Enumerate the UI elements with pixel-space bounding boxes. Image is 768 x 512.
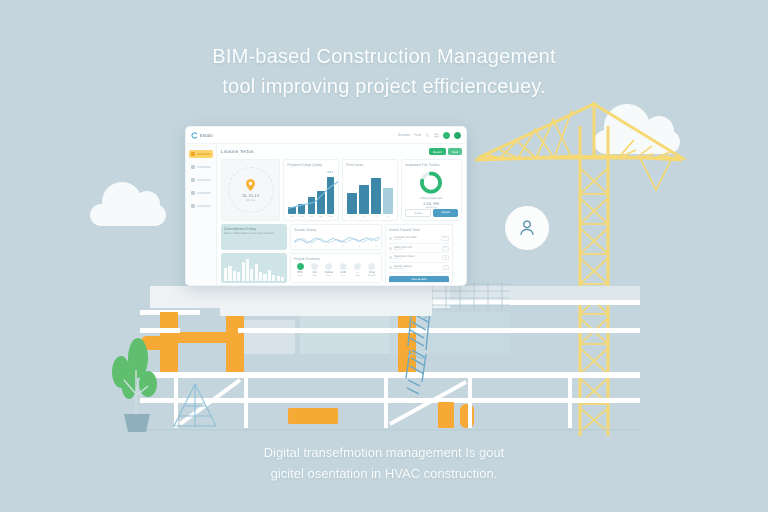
sidebar-item-label bbox=[197, 166, 211, 169]
list-item-sub: East wing bbox=[394, 268, 441, 270]
axis-tick-label: Apr bbox=[317, 216, 324, 218]
list-title: Suhert Toasets Tetur bbox=[389, 228, 449, 232]
list-item-text: Concrete pour deckLevel 3 bbox=[394, 236, 439, 241]
list-item-text: Steel frame checkGrid C4 bbox=[394, 255, 440, 260]
avatar[interactable] bbox=[443, 132, 450, 139]
axis-tick-label: 0 bbox=[295, 246, 296, 248]
x-axis-labels: JanFebMarAprMay bbox=[288, 216, 334, 218]
stat-value: — bbox=[356, 271, 359, 274]
stats-title: Prejete Summaty bbox=[294, 257, 378, 261]
dashboard-sidebar: Dashboard Projects Schedule Resources bbox=[186, 144, 217, 285]
bar bbox=[383, 188, 393, 214]
tasks-list: Concrete pour deckLevel 3OKHVAC duct run… bbox=[389, 234, 449, 272]
logo-text: Estalo bbox=[200, 133, 213, 138]
potted-plant-icon bbox=[100, 334, 172, 434]
axis-tick-label: 4 bbox=[311, 246, 312, 248]
bar bbox=[233, 271, 236, 282]
status-dot bbox=[389, 237, 392, 240]
stat-label: Plans bbox=[326, 275, 331, 277]
stat-value: Clrng bbox=[369, 271, 375, 274]
bar bbox=[259, 272, 262, 282]
dashboard-row-1: SL 31.14 Runce Prepaesit Siege Quatly +2… bbox=[221, 159, 462, 221]
progress-donut-card[interactable]: Anapeaest Fite Tioldes Oherynoqueodis 2.… bbox=[401, 159, 462, 221]
bar bbox=[228, 266, 231, 281]
page-title: BIM-based Construction Management tool i… bbox=[0, 42, 768, 102]
dashboard-topnav: Busines Feat bbox=[398, 132, 461, 139]
chart-title: Sunasit Shaeq bbox=[294, 228, 378, 232]
cloud-icon bbox=[90, 204, 166, 226]
status-badge: 12 bbox=[442, 246, 449, 251]
page-caption: Digital transefmotion management Is gout… bbox=[0, 442, 768, 484]
x-axis-labels: Q1Q2Q3Q4 bbox=[347, 216, 393, 218]
axis-tick-label: Q1 bbox=[347, 216, 357, 218]
view-all-tasks-button[interactable]: View all tasks bbox=[389, 276, 449, 283]
stat-label: Delay bbox=[355, 275, 360, 277]
stat-value: 124 bbox=[312, 271, 316, 274]
bar bbox=[359, 185, 369, 215]
user-avatar-badge bbox=[505, 206, 549, 250]
skyline-chart-card[interactable]: Site Output bbox=[221, 253, 287, 283]
site-location-card[interactable]: SL 31.14 Runce bbox=[221, 159, 280, 221]
list-item[interactable]: Steel frame checkGrid C43d bbox=[389, 253, 449, 263]
sidebar-item-label bbox=[197, 192, 211, 195]
dashboard-screen: Estalo Busines Feat bbox=[185, 126, 467, 286]
bar bbox=[224, 268, 227, 282]
chart-card-prect-iunes[interactable]: Prect Iunes Q1Q2Q3Q4 bbox=[342, 159, 398, 221]
check-circle-icon bbox=[297, 263, 304, 270]
bar bbox=[268, 270, 271, 281]
gear-icon bbox=[191, 204, 195, 208]
page-title: Lisaone Tertus bbox=[221, 149, 254, 154]
new-button[interactable]: New bbox=[448, 148, 462, 155]
stats-row: 86%Done124CrewOptinatPlans3.2MCost—Delay… bbox=[294, 263, 378, 277]
orange-beam bbox=[178, 332, 226, 343]
list-item[interactable]: HVAC duct runsZone B-1712 bbox=[389, 244, 449, 254]
axis-tick-label: Q4 bbox=[383, 216, 393, 218]
axis-tick-label: 8 bbox=[326, 246, 327, 248]
tasks-list-card[interactable]: Suhert Toasets Tetur Concrete pour deckL… bbox=[385, 224, 453, 283]
list-item-text: HVAC duct runsZone B-17 bbox=[394, 246, 440, 251]
logo-icon bbox=[191, 132, 198, 139]
dashboard-header: Lisaone Tertus Report New bbox=[221, 148, 462, 155]
illustration-scene: Estalo Busines Feat bbox=[0, 0, 768, 512]
details-button[interactable]: Details bbox=[405, 209, 432, 217]
topnav-item[interactable]: Feat bbox=[414, 133, 421, 137]
panel bbox=[300, 312, 390, 354]
stat-label: Weather bbox=[368, 275, 376, 277]
stat-item: 124Crew bbox=[308, 263, 320, 277]
axis-tick-label: Q2 bbox=[359, 216, 369, 218]
grid-icon[interactable] bbox=[434, 133, 439, 138]
dashboard-actions: Report New bbox=[429, 148, 462, 155]
bar bbox=[246, 259, 249, 281]
list-item-sub: Grid C4 bbox=[394, 258, 440, 260]
sidebar-item-label bbox=[197, 205, 211, 208]
panel bbox=[235, 320, 295, 354]
dashboard-topbar: Estalo Busines Feat bbox=[186, 127, 466, 144]
sidebar-item-schedule[interactable]: Schedule bbox=[189, 176, 213, 184]
bar bbox=[281, 277, 284, 281]
line-series bbox=[288, 174, 339, 214]
chart-title: Prect Iunes bbox=[346, 163, 394, 167]
status-badge: 3d bbox=[442, 255, 449, 260]
dashboard-row-2: Dvecrefjivess Enteg Mainten ciffeiltet a… bbox=[221, 224, 462, 283]
app-logo[interactable]: Estalo bbox=[191, 132, 213, 139]
status-dot bbox=[389, 247, 392, 250]
list-item-sub: Level 3 bbox=[394, 239, 439, 241]
map-rings bbox=[228, 167, 274, 213]
stats-summary-card[interactable]: Prejete Summaty 86%Done124CrewOptinatPla… bbox=[290, 253, 382, 283]
bar bbox=[272, 275, 275, 282]
topnav-item[interactable]: Busines bbox=[398, 133, 410, 137]
monitor-stand bbox=[220, 286, 432, 316]
status-dot bbox=[389, 256, 392, 259]
stat-item: ClrngWeather bbox=[366, 263, 378, 277]
grid-icon bbox=[191, 152, 195, 156]
bar bbox=[250, 269, 253, 281]
dashboard-monitor: Estalo Busines Feat bbox=[185, 126, 467, 286]
sidebar-item-resources[interactable]: Resources bbox=[189, 189, 213, 197]
user-icon bbox=[516, 217, 538, 239]
stat-label: Cost bbox=[341, 275, 345, 277]
stat-item: 86%Done bbox=[294, 263, 306, 277]
axis-tick-label: 16 bbox=[358, 246, 360, 248]
stat-value: 86% bbox=[298, 271, 303, 274]
minus-icon bbox=[354, 263, 361, 270]
donut-card-actions: Details Upgrade bbox=[405, 209, 458, 217]
list-item[interactable]: Concrete pour deckLevel 3OK bbox=[389, 234, 449, 244]
folder-icon bbox=[191, 165, 195, 169]
chart-title: Prepaesit Siege Quatly bbox=[287, 163, 335, 167]
status-badge: 7 bbox=[443, 265, 449, 270]
list-item[interactable]: Facade glazingEast wing7 bbox=[389, 263, 449, 273]
axis-tick-label: Q3 bbox=[371, 216, 381, 218]
helmet-icon bbox=[311, 263, 318, 270]
promo-card[interactable]: Dvecrefjivess Enteg Mainten ciffeiltet a… bbox=[221, 224, 287, 250]
stat-item: 3.2MCost bbox=[337, 263, 349, 277]
bar-series bbox=[347, 174, 393, 214]
x-axis-labels: 048121620 bbox=[295, 246, 377, 248]
axis-tick-label: 12 bbox=[342, 246, 344, 248]
bar bbox=[371, 178, 381, 214]
stat-item: —Delay bbox=[351, 263, 363, 277]
report-button[interactable]: Report bbox=[429, 148, 446, 155]
list-item-sub: Zone B-17 bbox=[394, 249, 440, 251]
sidebar-item-dashboard[interactable]: Dashboard bbox=[189, 150, 213, 158]
bar-series bbox=[224, 259, 284, 281]
promo-sub: Mainten ciffeiltet aduaenent sited todt … bbox=[224, 233, 284, 236]
bar bbox=[242, 262, 245, 281]
stat-label: Done bbox=[298, 275, 303, 277]
chart-title: Anapeaest Fite Tioldes bbox=[405, 163, 440, 167]
axis-tick-label: Jan bbox=[288, 216, 295, 218]
stat-value: Optinat bbox=[325, 271, 333, 274]
box-icon bbox=[191, 191, 195, 195]
sidebar-item-projects[interactable]: Projects bbox=[189, 163, 213, 171]
status-dot bbox=[389, 266, 392, 269]
bar bbox=[347, 193, 357, 214]
status-badge: OK bbox=[441, 236, 449, 241]
donut-label: Oherynoqueodis bbox=[420, 196, 442, 200]
bell-icon[interactable] bbox=[425, 133, 430, 138]
bar bbox=[255, 264, 258, 281]
promo-title: Dvecrefjivess Enteg bbox=[224, 227, 284, 232]
axis-tick-label: Feb bbox=[298, 216, 305, 218]
stat-label: Crew bbox=[312, 275, 317, 277]
tent-icon bbox=[170, 382, 220, 430]
list-item-text: Facade glazingEast wing bbox=[394, 265, 441, 270]
upgrade-button[interactable]: Upgrade bbox=[433, 209, 458, 217]
chart-icon bbox=[340, 263, 347, 270]
axis-tick-label: 20 bbox=[375, 246, 377, 248]
dashboard-body: Lisaone Tertus Report New bbox=[217, 144, 466, 285]
wave-chart-card[interactable]: Sunasit Shaeq 048121620 bbox=[290, 224, 382, 250]
axis-tick-label: Mar bbox=[308, 216, 315, 218]
sidebar-item-label bbox=[197, 179, 211, 182]
cloud-icon bbox=[368, 263, 375, 270]
sidebar-item-settings[interactable]: Settings bbox=[189, 202, 213, 210]
bar bbox=[237, 272, 240, 281]
bar bbox=[263, 274, 266, 281]
chart-card-siege-quatly[interactable]: Prepaesit Siege Quatly +24.5 JanFebMarAp… bbox=[283, 159, 339, 221]
stat-item: OptinatPlans bbox=[323, 263, 335, 277]
stat-value: 3.2M bbox=[340, 271, 346, 274]
orange-column bbox=[226, 312, 244, 374]
axis-tick-label: May bbox=[327, 216, 334, 218]
calendar-icon bbox=[191, 178, 195, 182]
bar bbox=[277, 276, 280, 281]
sidebar-item-label bbox=[197, 153, 211, 156]
beam bbox=[140, 328, 180, 333]
doc-icon bbox=[325, 263, 332, 270]
donut-chart bbox=[419, 171, 443, 194]
avatar[interactable] bbox=[454, 132, 461, 139]
